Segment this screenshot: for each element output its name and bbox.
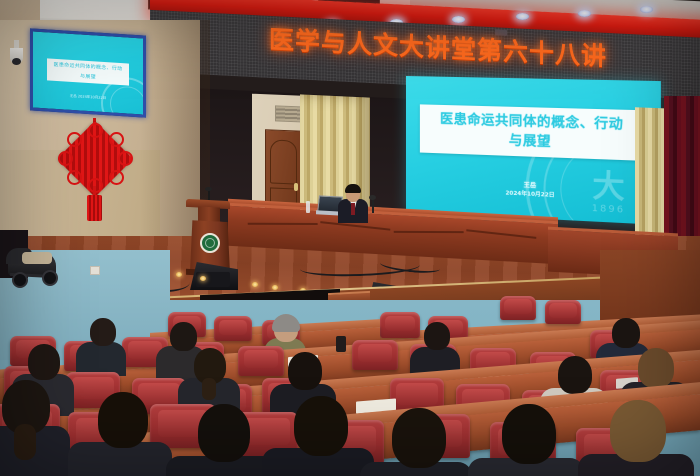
footlight-2 (200, 276, 206, 281)
table-trim-1 (248, 223, 319, 237)
downlight-8 (640, 6, 653, 13)
audience-head (90, 318, 116, 346)
stroller-blanket (22, 252, 52, 264)
audience-shoulders (76, 342, 126, 376)
knot-loop-tr (109, 132, 124, 147)
door-panel-upper (270, 139, 297, 184)
audience-head (558, 356, 592, 394)
table-trim-3 (394, 231, 465, 245)
footlight-1 (176, 272, 182, 277)
audience-head (638, 348, 674, 388)
seat-midleft-2[interactable] (214, 316, 252, 341)
projection-screen: 大 1896 医患命运共同体的概念、行动 与展望 王岳 2024年10月22日 (406, 76, 661, 225)
audience-head (424, 322, 450, 350)
audience-head (170, 322, 197, 351)
seat-far-3[interactable] (500, 296, 536, 320)
chinese-knot-icon (60, 118, 130, 226)
footlight-3 (252, 282, 258, 287)
audience-head (198, 404, 250, 462)
audience-head (288, 352, 322, 390)
water-bottle (306, 201, 310, 213)
banner-sensor (495, 29, 507, 36)
knot-loop-tl (67, 132, 82, 147)
wall-outlet (90, 266, 100, 275)
knot-loop-left (58, 151, 73, 166)
knot-loop-bl (67, 170, 82, 185)
wall-monitor: 医患命运共同体的概念、行动 与展望 王岳 2024年10月22日 (30, 28, 146, 117)
seat-r2-5[interactable] (238, 346, 284, 376)
audience-head (294, 396, 348, 456)
audience-head (612, 318, 640, 348)
audience-head (392, 408, 446, 468)
downlight-5 (452, 16, 465, 23)
audience-head (610, 400, 666, 462)
speaker-hair (345, 184, 361, 193)
seat-r2-6[interactable] (352, 340, 398, 370)
knot-loop-right (118, 151, 133, 166)
audience-ponytail (202, 378, 216, 400)
audience-head (502, 404, 556, 464)
cup-on-desk (336, 336, 346, 352)
lecture-hall-photo: 医学与人文大讲堂第六十八讲 大 1896 医患命运共同体的概念、行动 与展望 王… (0, 0, 700, 476)
knot-loop-br (109, 170, 124, 185)
stroller-wheel-rear (42, 270, 58, 286)
table-trim-4 (466, 229, 537, 251)
footlight-4 (272, 285, 278, 290)
audience-head (98, 392, 148, 448)
table-trim-2 (320, 221, 391, 243)
university-emblem-icon (200, 233, 220, 253)
table-microphone-stand (372, 199, 374, 213)
downlight-6 (516, 13, 529, 20)
audience-head (28, 344, 60, 380)
camera-lens-icon (12, 58, 21, 65)
seat-far-4[interactable] (545, 300, 581, 324)
stroller-wheel-front (12, 272, 28, 288)
knot-loop-top (88, 123, 103, 138)
knot-tassel (87, 195, 102, 221)
downlight-7 (578, 10, 591, 17)
speaker-tie (351, 203, 355, 215)
door-handle[interactable] (294, 183, 298, 191)
seat-far-1[interactable] (380, 312, 420, 338)
table-microphone-icon (369, 195, 376, 200)
podium-microphone-icon (205, 187, 212, 191)
slide-title: 医患命运共同体的概念、行动 与展望 (420, 104, 646, 155)
audience-ponytail (14, 424, 36, 460)
slide-title-box: 医患命运共同体的概念、行动 与展望 (420, 104, 646, 161)
